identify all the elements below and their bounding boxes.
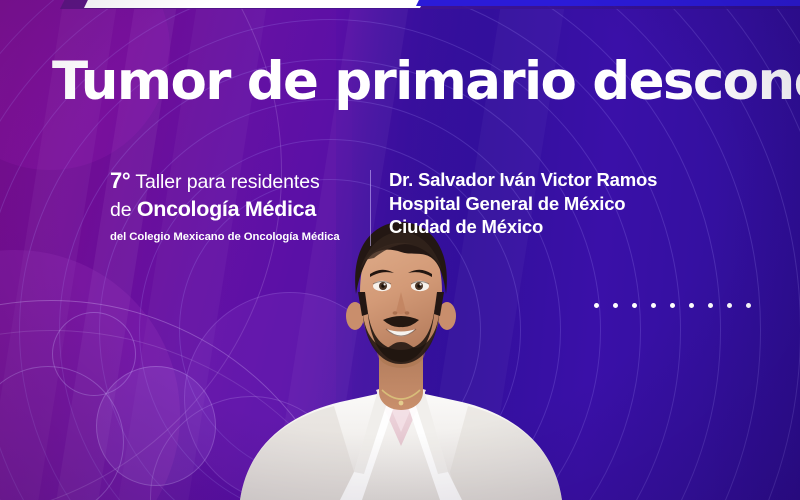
speaker-block: Dr. Salvador Iván Victor Ramos Hospital … — [371, 168, 657, 239]
slide-title: Tumor de primario desconocido — [52, 55, 772, 108]
top-ribbon-blue-band — [416, 0, 800, 6]
decorative-dot — [689, 303, 694, 308]
decorative-dot — [727, 303, 732, 308]
top-ribbon-white-band — [84, 0, 428, 8]
workshop-line-2-bold: Oncología Médica — [137, 197, 316, 221]
workshop-ordinal: 7° — [110, 168, 130, 193]
top-ribbon — [0, 0, 800, 22]
speaker-name: Dr. Salvador Iván Victor Ramos — [389, 168, 657, 192]
workshop-line-3: del Colegio Mexicano de Oncología Médica — [110, 229, 356, 245]
decorative-dot — [632, 303, 637, 308]
decorative-dot — [651, 303, 656, 308]
decorative-dot — [708, 303, 713, 308]
decorative-dot — [746, 303, 751, 308]
background-circle-filled-2 — [184, 292, 396, 500]
workshop-block: 7° Taller para residentes de Oncología M… — [110, 168, 370, 245]
workshop-line-2-prefix: de — [110, 199, 137, 221]
presentation-slide: Tumor de primario desconocido 7° Taller … — [0, 0, 800, 500]
workshop-line-1-rest: Taller para residentes — [130, 171, 319, 193]
workshop-line-1: 7° Taller para residentes — [110, 168, 356, 195]
speaker-institution: Hospital General de México — [389, 192, 657, 216]
decorative-dot — [594, 303, 599, 308]
workshop-line-2: de Oncología Médica — [110, 196, 356, 223]
info-row: 7° Taller para residentes de Oncología M… — [110, 168, 750, 254]
decorative-dot-row — [594, 303, 751, 308]
decorative-dot — [670, 303, 675, 308]
decorative-dot — [613, 303, 618, 308]
speaker-city: Ciudad de México — [389, 215, 657, 239]
